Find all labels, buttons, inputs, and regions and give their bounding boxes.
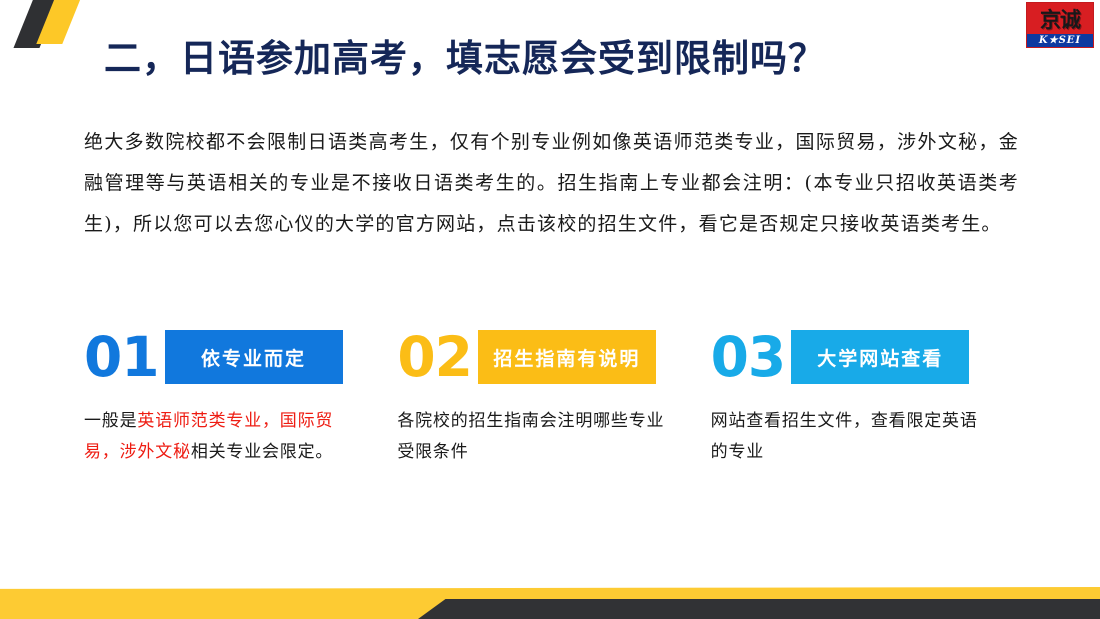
body-paragraph: 绝大多数院校都不会限制日语类高考生，仅有个别专业例如像英语师范类专业，国际贸易，… [84, 122, 1019, 245]
step-band-label-01: 依专业而定 [201, 344, 306, 371]
step-card-01: 01 依专业而定 一般是英语师范类专业，国际贸易，涉外文秘相关专业会限定。 [84, 326, 397, 468]
step-band-label-03: 大学网站查看 [817, 344, 943, 371]
step-band-03: 大学网站查看 [791, 330, 969, 384]
step-desc-tail-01: 相关专业会限定。 [191, 442, 333, 462]
step-desc-03: 网站查看招生文件，查看限定英语的专业 [711, 406, 983, 468]
step-desc-lead-01: 一般是 [84, 411, 137, 431]
step-card-02: 02 招生指南有说明 各院校的招生指南会注明哪些专业受限条件 [397, 326, 710, 468]
step-card-03: 03 大学网站查看 网站查看招生文件，查看限定英语的专业 [711, 326, 1024, 468]
footer-decoration-bar [0, 583, 1100, 619]
page-title: 二，日语参加高考，填志愿会受到限制吗？ [104, 28, 826, 82]
step-band-label-02: 招生指南有说明 [493, 344, 640, 371]
logo-mark-text: 京诚 [1027, 3, 1093, 36]
step-card-list: 01 依专业而定 一般是英语师范类专业，国际贸易，涉外文秘相关专业会限定。 02… [84, 326, 1024, 468]
step-band-01: 依专业而定 [165, 330, 343, 384]
step-card-01-header: 01 依专业而定 [84, 326, 367, 388]
step-desc-01: 一般是英语师范类专业，国际贸易，涉外文秘相关专业会限定。 [84, 406, 356, 468]
step-desc-lead-03: 网站查看招生文件，查看限定英语的专业 [711, 411, 978, 462]
step-desc-lead-02: 各院校的招生指南会注明哪些专业受限条件 [397, 411, 664, 462]
slide-root: 京诚 K★SEI 二，日语参加高考，填志愿会受到限制吗？ 绝大多数院校都不会限制… [0, 0, 1100, 619]
step-desc-02: 各院校的招生指南会注明哪些专业受限条件 [397, 406, 669, 468]
brand-logo: 京诚 K★SEI [1026, 2, 1094, 48]
step-number-02: 02 [397, 326, 472, 388]
step-number-03: 03 [711, 326, 786, 388]
logo-band-text: K★SEI [1027, 34, 1093, 47]
step-card-03-header: 03 大学网站查看 [711, 326, 994, 388]
step-number-01: 01 [84, 326, 159, 388]
step-card-02-header: 02 招生指南有说明 [397, 326, 680, 388]
step-band-02: 招生指南有说明 [478, 330, 656, 384]
